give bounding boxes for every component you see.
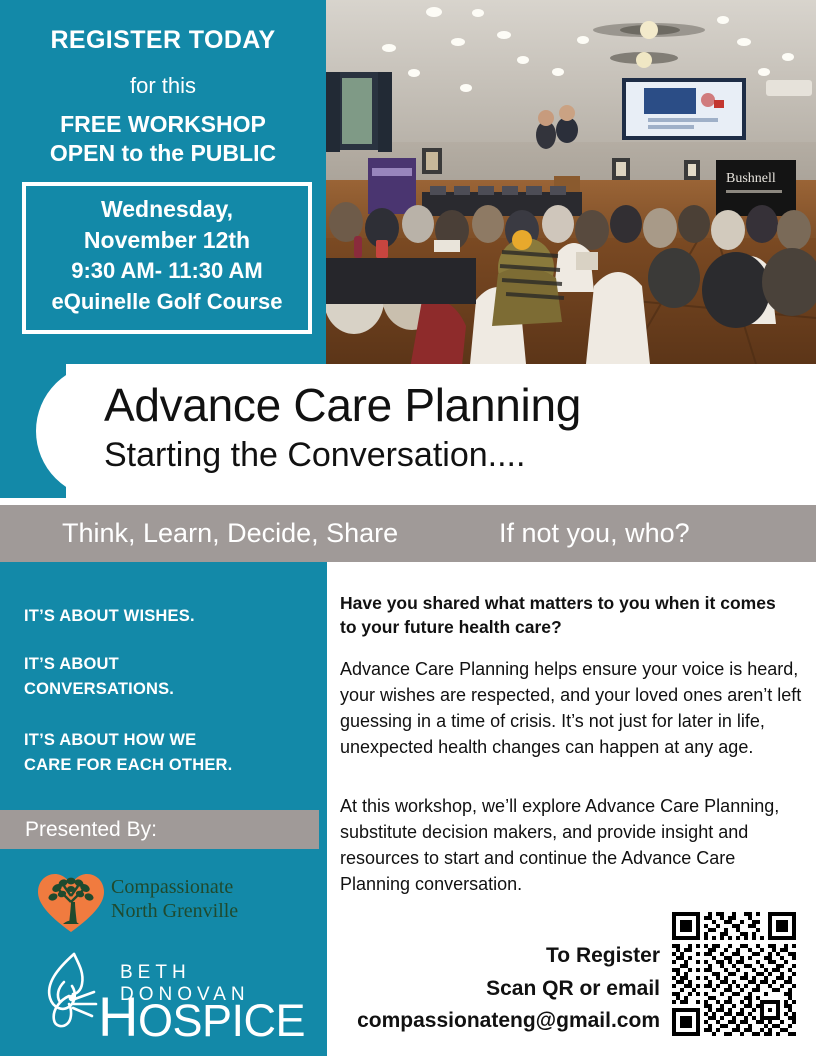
event-date: November 12th bbox=[26, 227, 308, 254]
beth-donovan-hospice-logo: BETH DONOVAN HOSPICE bbox=[36, 948, 292, 1036]
qr-code[interactable] bbox=[668, 908, 800, 1040]
hospice-logo-cap: H bbox=[98, 985, 138, 1048]
body-paragraph-1: Advance Care Planning helps ensure your … bbox=[340, 656, 805, 760]
free-workshop-line1: FREE WORKSHOP bbox=[0, 110, 326, 139]
event-details-box: Wednesday, November 12th 9:30 AM- 11:30 … bbox=[22, 182, 312, 334]
body-lead-question: Have you shared what matters to you when… bbox=[340, 592, 795, 639]
event-venue: eQuinelle Golf Course bbox=[26, 289, 308, 315]
for-this-text: for this bbox=[0, 73, 326, 99]
heart-tree-icon bbox=[36, 872, 106, 934]
svg-text:Bushnell: Bushnell bbox=[726, 171, 776, 186]
page-subtitle: Starting the Conversation.... bbox=[104, 436, 525, 475]
free-workshop-line2: OPEN to the PUBLIC bbox=[0, 139, 326, 168]
to-register-label: To Register bbox=[330, 944, 660, 968]
statement-wishes: IT’S ABOUT WISHES. bbox=[24, 604, 195, 629]
statement-care-line2: CARE FOR EACH OTHER. bbox=[24, 753, 232, 778]
logo-line-1: Compassionate bbox=[111, 875, 238, 899]
statement-conversations-line2: CONVERSATIONS. bbox=[24, 677, 174, 702]
hospice-logo-rest: OSPICE bbox=[138, 995, 305, 1046]
tagline-left: Think, Learn, Decide, Share bbox=[62, 518, 398, 549]
registration-email[interactable]: compassionateng@gmail.com bbox=[310, 1009, 660, 1033]
compassionate-north-grenville-logo: Compassionate North Grenville bbox=[36, 872, 268, 934]
logo-line-2: North Grenville bbox=[111, 899, 238, 923]
statement-conversations-line1: IT’S ABOUT bbox=[24, 652, 174, 677]
poster: REGISTER TODAY for this FREE WORKSHOP OP… bbox=[0, 0, 816, 1056]
body-paragraph-2: At this workshop, we’ll explore Advance … bbox=[340, 793, 790, 897]
workshop-audience-photo: Bushnell bbox=[326, 0, 816, 364]
hospice-logo-wordmark: HOSPICE bbox=[98, 984, 305, 1049]
scan-qr-label: Scan QR or email bbox=[330, 977, 660, 1001]
register-today-heading: REGISTER TODAY bbox=[0, 26, 326, 55]
event-time: 9:30 AM- 11:30 AM bbox=[26, 258, 308, 284]
column-divider bbox=[319, 562, 327, 1056]
statement-care-line1: IT’S ABOUT HOW WE bbox=[24, 728, 232, 753]
free-workshop-heading: FREE WORKSHOP OPEN to the PUBLIC bbox=[0, 110, 326, 167]
page-title: Advance Care Planning bbox=[104, 378, 581, 432]
tagline-right: If not you, who? bbox=[499, 518, 690, 549]
event-day: Wednesday, bbox=[26, 196, 308, 223]
statement-care: IT’S ABOUT HOW WE CARE FOR EACH OTHER. bbox=[24, 728, 232, 778]
statement-conversations: IT’S ABOUT CONVERSATIONS. bbox=[24, 652, 174, 702]
presented-by-label: Presented By: bbox=[25, 818, 157, 842]
compassionate-logo-text: Compassionate North Grenville bbox=[111, 875, 238, 924]
